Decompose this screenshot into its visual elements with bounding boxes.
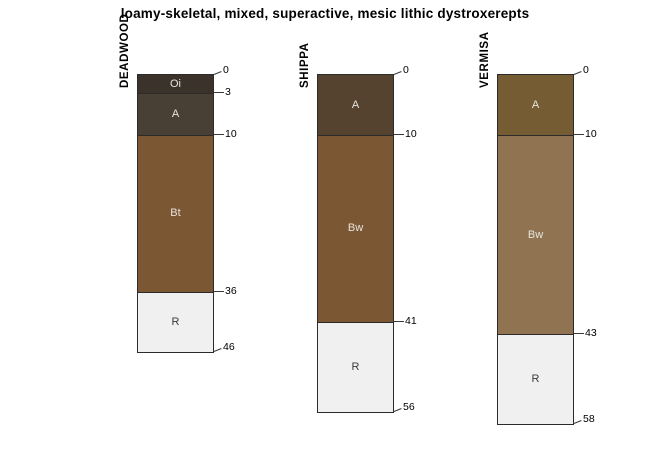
depth-label: 41 [405, 316, 417, 327]
depth-tick [214, 348, 222, 352]
horizon-label: R [352, 362, 360, 373]
depth-label: 46 [223, 342, 235, 353]
depth-label: 0 [403, 65, 409, 76]
depth-label: 43 [585, 328, 597, 339]
depth-label: 58 [583, 414, 595, 425]
depth-tick [214, 291, 224, 292]
series-label-shippa: SHIPPA [299, 42, 311, 88]
horizon-a: A [318, 75, 393, 135]
horizon-r: R [318, 322, 393, 412]
depth-label: 10 [405, 129, 417, 140]
horizon-label: Bt [170, 208, 180, 219]
horizon-stack-vermisa: ABwR [497, 74, 574, 425]
horizon-bt: Bt [138, 135, 213, 292]
depth-tick [214, 134, 224, 135]
horizon-r: R [138, 292, 213, 352]
horizon-a: A [498, 75, 573, 135]
depth-tick [394, 408, 402, 412]
depth-tick [394, 134, 404, 135]
depth-label: 0 [223, 65, 229, 76]
horizon-bw: Bw [498, 135, 573, 334]
depth-label: 36 [225, 286, 237, 297]
horizon-label: Bw [528, 230, 543, 241]
depth-label: 3 [225, 87, 231, 98]
depth-tick [214, 92, 224, 93]
horizon-stack-shippa: ABwR [317, 74, 394, 413]
depth-tick [574, 333, 584, 334]
series-label-deadwood: DEADWOOD [119, 14, 131, 88]
depth-tick [574, 420, 582, 424]
horizon-label: R [172, 317, 180, 328]
depth-tick [394, 321, 404, 322]
horizon-a: A [138, 93, 213, 135]
depth-tick [574, 71, 582, 75]
series-label-vermisa: VERMISA [479, 31, 491, 88]
depth-tick [214, 71, 222, 75]
page-title: loamy-skeletal, mixed, superactive, mesi… [0, 6, 650, 21]
depth-label: 10 [585, 129, 597, 140]
depth-tick [394, 71, 402, 75]
horizon-oi: Oi [138, 75, 213, 93]
horizon-label: Oi [170, 79, 181, 90]
horizon-label: A [532, 100, 539, 111]
horizon-r: R [498, 334, 573, 424]
horizon-label: A [352, 100, 359, 111]
depth-label: 10 [225, 129, 237, 140]
depth-label: 56 [403, 402, 415, 413]
horizon-label: Bw [348, 223, 363, 234]
horizon-bw: Bw [318, 135, 393, 322]
depth-label: 0 [583, 65, 589, 76]
depth-tick [574, 134, 584, 135]
horizon-stack-deadwood: OiABtR [137, 74, 214, 353]
horizon-label: R [532, 374, 540, 385]
horizon-label: A [172, 109, 179, 120]
